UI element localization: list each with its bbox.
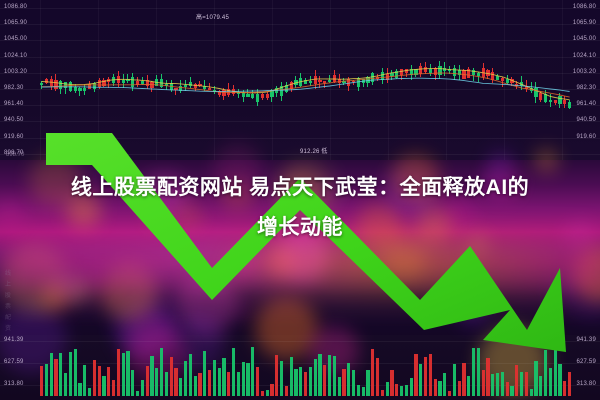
screenshot-root: 1086.801065.901045.001024.101003.20982.3… <box>0 0 600 400</box>
headline: 线上股票配资网站 易点天下武莹：全面释放AI的 增长动能 <box>26 168 574 248</box>
headline-line-1: 线上股票配资网站 易点天下武莹：全面释放AI的 <box>71 176 529 199</box>
headline-line-2: 增长动能 <box>26 208 574 248</box>
